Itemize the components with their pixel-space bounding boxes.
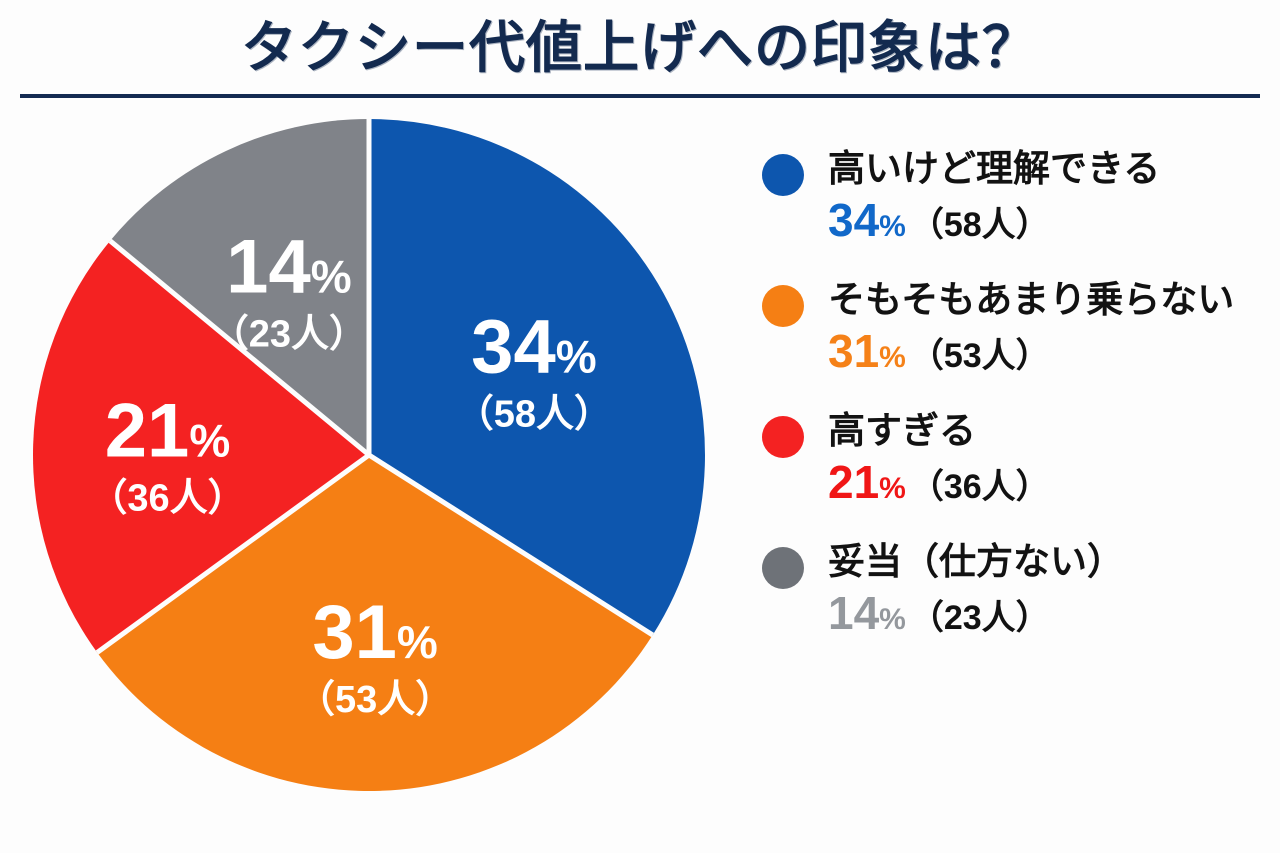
legend-percent: 14 xyxy=(828,587,879,639)
legend-text-group: 妥当（仕方ない） 14%（23人） xyxy=(828,541,1124,638)
legend-value-row: 14%（23人） xyxy=(828,588,1124,639)
legend-count: （58人） xyxy=(910,206,1050,244)
legend-label: 妥当（仕方ない） xyxy=(828,541,1124,584)
legend-percent: 34 xyxy=(828,194,879,246)
pie-chart: 34% （58人） 31% （53人） 21% （36人） 14% （23人） xyxy=(32,118,706,794)
pie-label-count: （36人） xyxy=(89,478,245,520)
infographic-canvas: タクシー代値上げへの印象は？ 34% （58人） xyxy=(0,0,1280,853)
legend-text-group: 高いけど理解できる 34%（58人） xyxy=(828,148,1160,245)
legend-item-rarely-ride[interactable]: そもそもあまり乗らない 31%（53人） xyxy=(762,279,1262,376)
legend-color-dot-gray xyxy=(762,547,804,589)
legend-value-row: 31%（53人） xyxy=(828,326,1234,377)
legend-item-reasonable[interactable]: 妥当（仕方ない） 14%（23人） xyxy=(762,541,1262,638)
legend-label: そもそもあまり乗らない xyxy=(828,279,1234,322)
legend-text-group: そもそもあまり乗らない 31%（53人） xyxy=(828,279,1234,376)
legend-percent: 31 xyxy=(828,325,879,377)
title-divider xyxy=(20,94,1260,98)
legend-value-row: 34%（58人） xyxy=(828,195,1160,246)
legend-color-dot-blue xyxy=(762,154,804,196)
legend-label: 高いけど理解できる xyxy=(828,148,1160,191)
title-block: タクシー代値上げへの印象は？ xyxy=(0,8,1280,88)
legend-count: （23人） xyxy=(910,599,1050,637)
legend-count: （36人） xyxy=(910,468,1050,506)
legend-text-group: 高すぎる 21%（36人） xyxy=(828,410,1050,507)
legend-item-high-but-understandable[interactable]: 高いけど理解できる 34%（58人） xyxy=(762,148,1262,245)
legend-label: 高すぎる xyxy=(828,410,1050,453)
legend-count: （53人） xyxy=(910,337,1050,375)
legend-percent-sign: % xyxy=(879,603,906,636)
legend-color-dot-red xyxy=(762,416,804,458)
legend-value-row: 21%（36人） xyxy=(828,457,1050,508)
legend-percent-sign: % xyxy=(879,341,906,374)
page-title: タクシー代値上げへの印象は？ xyxy=(241,20,1039,76)
pie-label-count: （58人） xyxy=(456,393,612,435)
legend-percent: 21 xyxy=(828,456,879,508)
legend-color-dot-orange xyxy=(762,285,804,327)
legend-percent-sign: % xyxy=(879,472,906,505)
pie-label-count: （53人） xyxy=(297,679,453,721)
pie-label-count: （23人） xyxy=(211,314,367,356)
legend-percent-sign: % xyxy=(879,210,906,243)
legend: 高いけど理解できる 34%（58人） そもそもあまり乗らない 31%（53人） … xyxy=(762,148,1262,673)
pie-chart-svg: 34% （58人） 31% （53人） 21% （36人） 14% （23人） xyxy=(32,118,706,794)
legend-item-too-expensive[interactable]: 高すぎる 21%（36人） xyxy=(762,410,1262,507)
